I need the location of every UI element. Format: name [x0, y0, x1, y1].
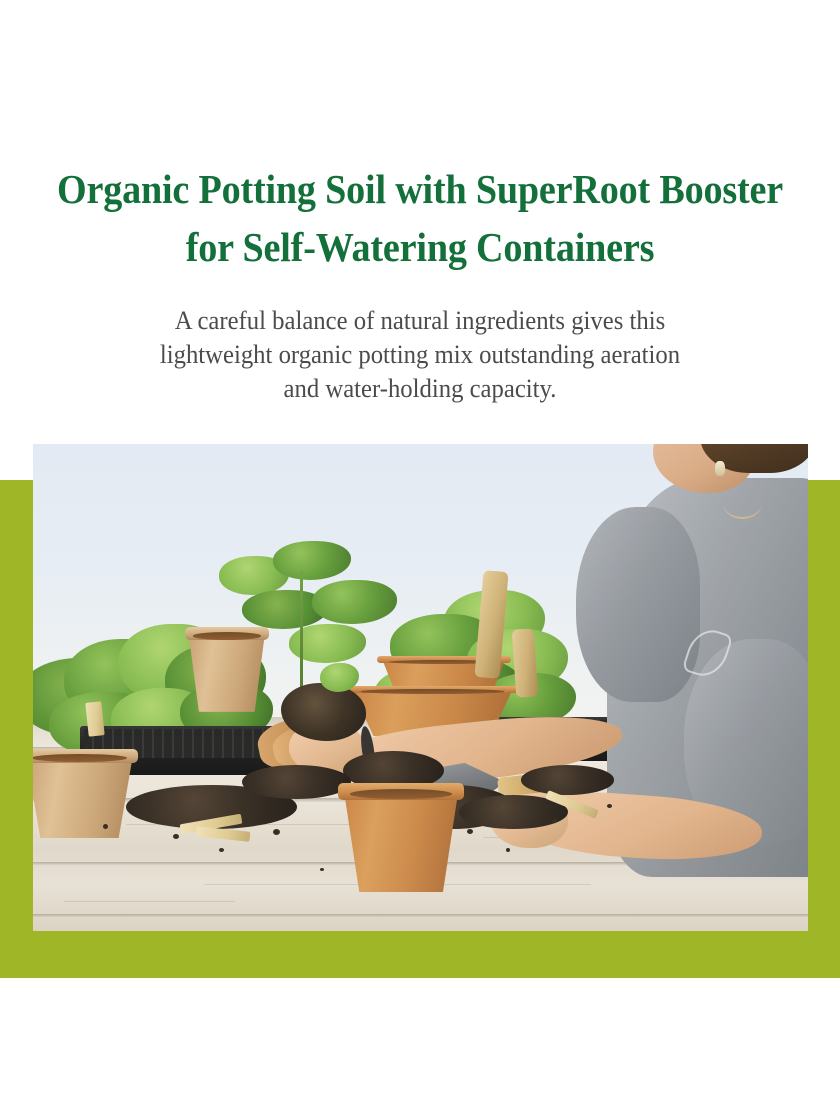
soil-pile	[521, 765, 614, 794]
wooden-tool-handle	[511, 628, 537, 698]
person-sleeve	[576, 507, 700, 702]
hero-scene	[33, 444, 808, 931]
foreground-terracotta-pot	[343, 785, 459, 892]
page-title: Organic Potting Soil with SuperRoot Boos…	[29, 160, 810, 276]
necklace	[723, 488, 762, 519]
headline-block: Organic Potting Soil with SuperRoot Boos…	[0, 160, 840, 406]
stacked-clay-pot	[188, 629, 266, 712]
product-subtitle: A careful balance of natural ingredients…	[21, 276, 819, 406]
seedling-stem	[300, 571, 303, 698]
subtitle-line-3: and water-holding capacity.	[21, 372, 819, 406]
subtitle-line-2: lightweight organic potting mix outstand…	[21, 338, 819, 372]
large-clay-pot	[33, 751, 134, 839]
subtitle-line-1: A careful balance of natural ingredients…	[21, 304, 819, 338]
earring-icon	[715, 461, 725, 476]
product-page: Organic Potting Soil with SuperRoot Boos…	[0, 0, 840, 1120]
title-line-1: Organic Potting Soil with SuperRoot Boos…	[29, 160, 810, 218]
title-line-2: for Self-Watering Containers	[29, 218, 810, 276]
hero-image	[33, 444, 808, 931]
